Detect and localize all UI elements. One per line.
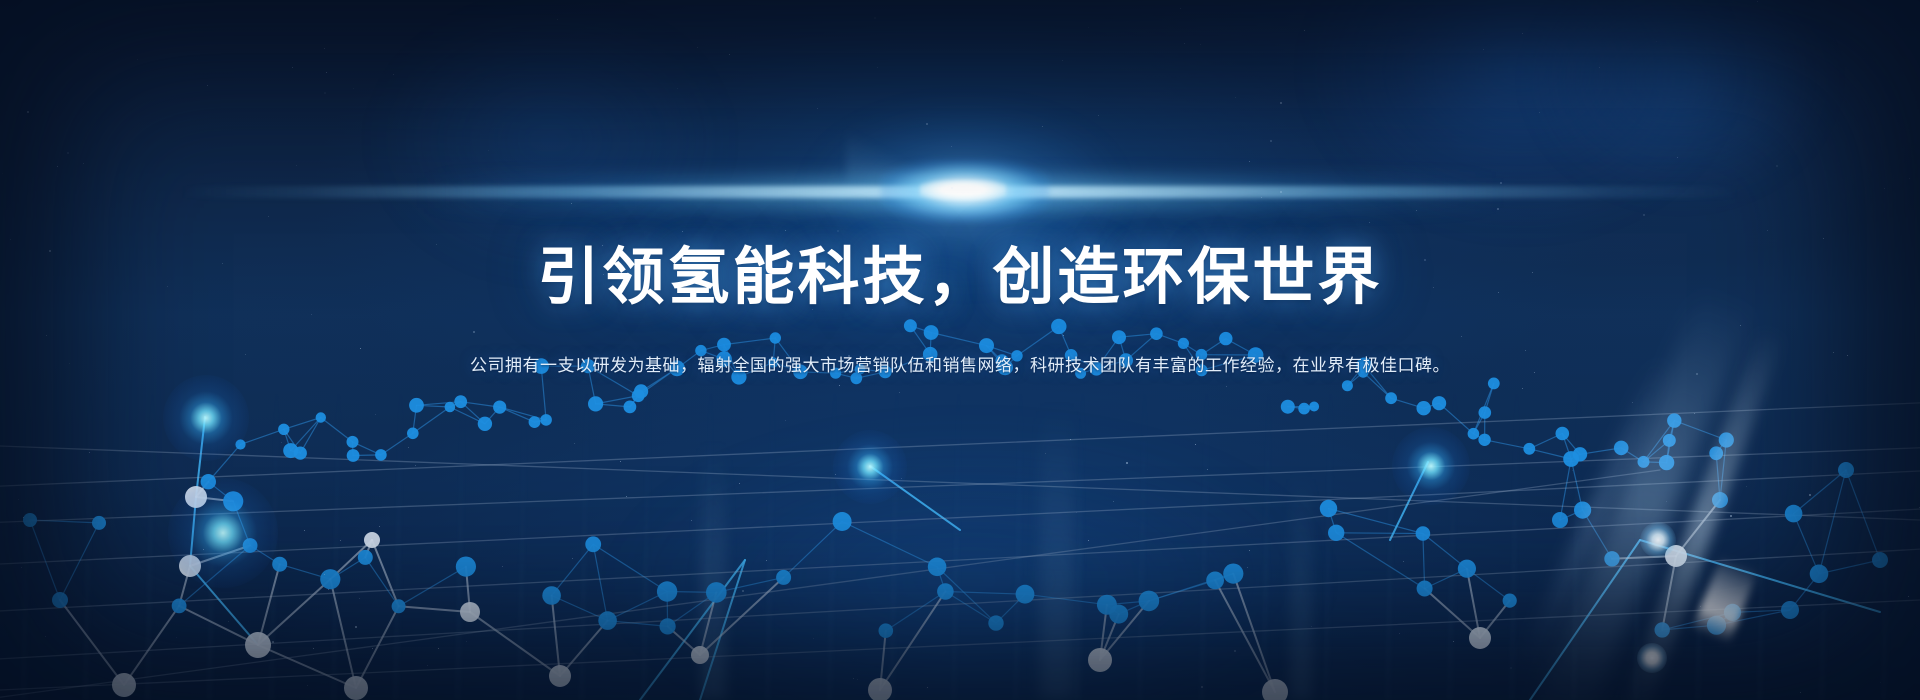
hero-banner: 引领氢能科技，创造环保世界 公司拥有一支以研发为基础，辐射全国的强大市场营销队伍… — [0, 0, 1920, 700]
page-subtitle: 公司拥有一支以研发为基础，辐射全国的强大市场营销队伍和销售网络，科研技术团队有丰… — [0, 353, 1920, 379]
network-graph — [0, 0, 1920, 700]
page-title: 引领氢能科技，创造环保世界 — [0, 245, 1920, 310]
